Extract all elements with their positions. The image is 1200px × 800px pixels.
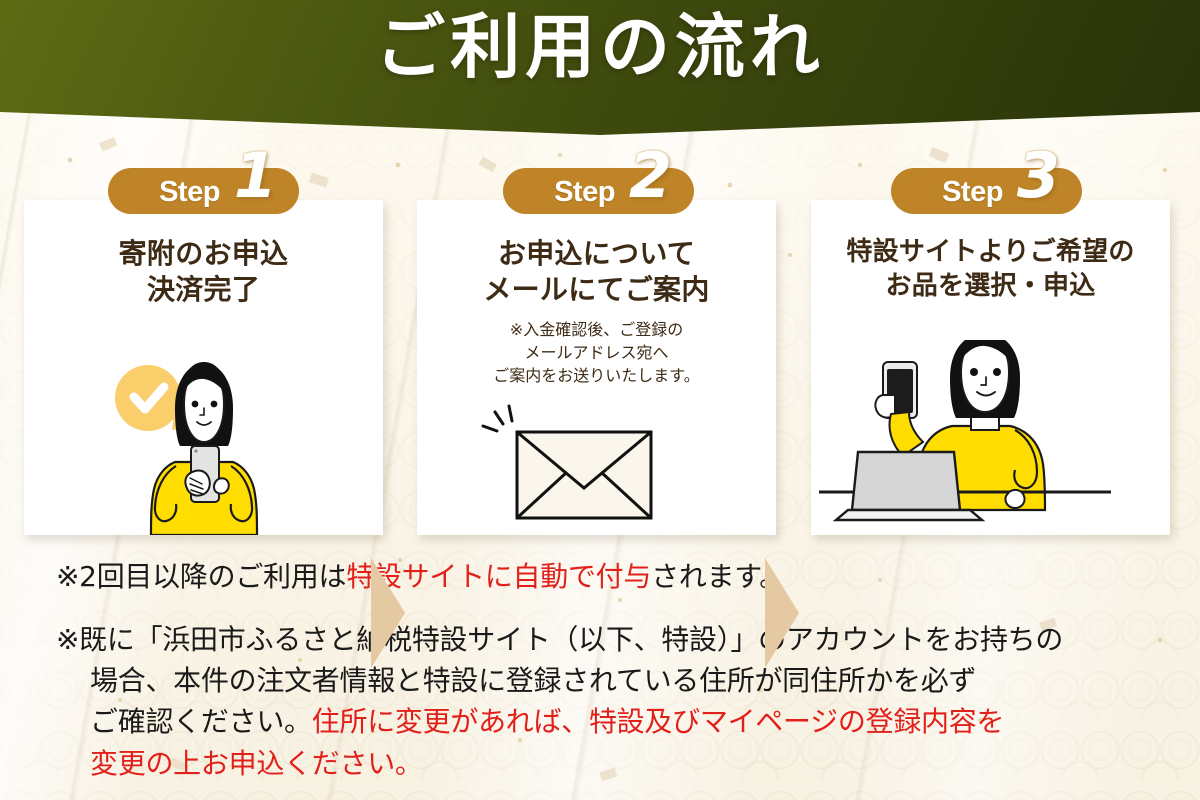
notes-section: ※2回目以降のご利用は特設サイトに自動で付与されます。 ※既に「浜田市ふるさと納… [56,556,1166,784]
note2-line3-highlight: 住所に変更があれば、特設及びマイページの登録内容を [312,705,1004,738]
step-card-2[interactable]: Step 2 お申込について メールにてご案内 ※入金確認後、ご登録の メールア… [417,200,776,535]
note-line-1: ※2回目以降のご利用は特設サイトに自動で付与されます。 [56,556,1166,597]
step-badge-3: Step 3 [891,168,1082,214]
step-card-1[interactable]: Step 1 寄附のお申込 決済完了 [24,200,383,535]
illustration-woman-with-laptop-and-phone [811,340,1170,525]
note2-line-2: 場合、本件の注文者情報と特設に登録されている住所が同住所かを必ず [56,660,1166,701]
page-title: ご利用の流れ [375,12,824,82]
step-badge-1: Step 1 [108,168,299,214]
steps-row: Step 1 寄附のお申込 決済完了 [0,200,1200,540]
note1-part1: ※2回目以降のご利用は [56,560,346,593]
step-badge-word: Step [159,176,220,209]
note2-line-1: ※既に「浜田市ふるさと納税特設サイト（以下、特設）」のアカウントをお持ちの [56,619,1166,660]
sparkle-lines [483,406,512,431]
step-badge-word: Step [554,176,615,209]
step-note-2: ※入金確認後、ご登録の メールアドレス宛へ ご案内をお送りいたします。 [417,318,776,388]
step-title-2: お申込について メールにてご案内 [417,236,776,309]
illustration-envelope [417,396,776,581]
step-badge-number: 3 [1017,145,1060,207]
step-badge-number: 1 [234,145,277,207]
illustration-woman-with-smartphone-check [24,350,383,535]
note2-line-4: 変更の上お申込ください。 [56,743,1166,784]
step-card-3[interactable]: Step 3 特設サイトよりご希望の お品を選択・申込 [811,200,1170,535]
note-block-2: ※既に「浜田市ふるさと納税特設サイト（以下、特設）」のアカウントをお持ちの 場合… [56,619,1166,784]
note2-line3-black: ご確認ください。 [90,705,312,738]
step-title-1: 寄附のお申込 決済完了 [24,236,383,309]
note2-line-3: ご確認ください。住所に変更があれば、特設及びマイページの登録内容を [56,701,1166,742]
step-badge-word: Step [942,176,1003,209]
step-badge-2: Step 2 [503,168,694,214]
envelope-icon [517,432,651,518]
step-title-3: 特設サイトよりご希望の お品を選択・申込 [811,236,1170,304]
step-badge-number: 2 [629,145,672,207]
page-header-banner: ご利用の流れ [0,0,1200,135]
note1-part2-highlight: 特設サイトに自動で付与 [346,560,651,593]
